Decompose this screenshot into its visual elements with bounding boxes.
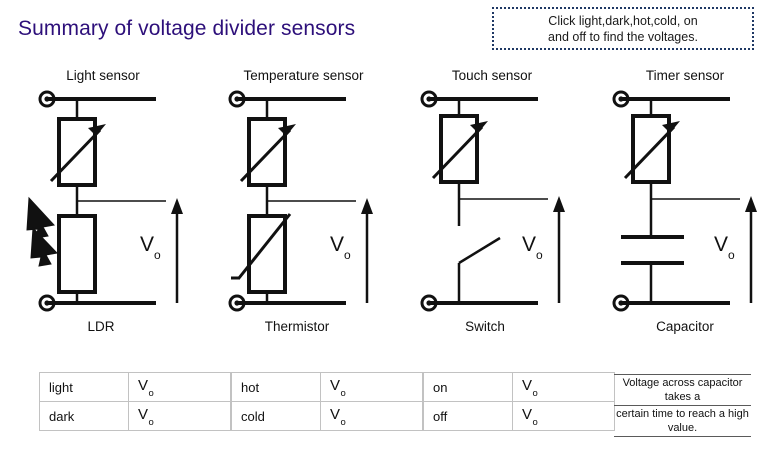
table-row[interactable]: light Vo [40,373,231,402]
vo-subscript: o [149,417,154,428]
instruction-line-1: Click light,dark,hot,cold, on [548,14,697,28]
vo-letter: V [522,377,532,394]
vo-subscript: o [341,388,346,399]
vo-letter: V [714,233,728,256]
component-name-capacitor: Capacitor [590,319,777,334]
table-row[interactable]: dark Vo [40,402,231,431]
ldr-results-table: light Vo dark Vo [39,372,231,431]
circuit-panel-touch-sensor: Touch sensor Vo Switch [400,68,590,358]
instruction-line-2: and off to find the voltages. [548,30,698,44]
switch-results-table: on Vo off Vo [423,372,615,431]
voltage-cell-light[interactable]: Vo [129,373,231,402]
vo-letter: V [138,377,148,394]
circuit-panel-temperature-sensor: Temperature sensor Vo Thermistor [208,68,398,358]
page-title: Summary of voltage divider sensors [18,17,355,41]
output-voltage-label-touch: Vo [522,233,543,259]
timer-sensor-circuit-diagram[interactable] [592,86,777,316]
vo-letter: V [330,406,340,423]
sensor-title-timer: Timer sensor [610,68,760,83]
vo-letter: V [138,406,148,423]
instruction-text: Click light,dark,hot,cold, on and off to… [542,13,704,45]
vo-letter: V [522,233,536,256]
touch-sensor-circuit-diagram[interactable] [400,86,590,316]
vo-subscript: o [533,417,538,428]
vo-letter: V [330,233,344,256]
vo-subscript: o [728,248,735,262]
output-voltage-label-light: Vo [140,233,161,259]
vo-subscript: o [154,248,161,262]
circuit-panel-light-sensor: Light sensor [18,68,208,358]
component-name-switch: Switch [390,319,580,334]
condition-cell-on[interactable]: on [424,373,513,402]
table-row[interactable]: on Vo [424,373,615,402]
condition-cell-off[interactable]: off [424,402,513,431]
condition-cell-light[interactable]: light [40,373,129,402]
component-name-thermistor: Thermistor [202,319,392,334]
capacitor-note-line-2: certain time to reach a high value. [614,406,751,437]
vo-subscript: o [536,248,543,262]
condition-cell-hot[interactable]: hot [232,373,321,402]
vo-letter: V [522,406,532,423]
capacitor-note-line-1: Voltage across capacitor takes a [614,375,751,406]
voltage-cell-on[interactable]: Vo [513,373,615,402]
slide-canvas: Summary of voltage divider sensors Click… [0,0,777,456]
voltage-cell-hot[interactable]: Vo [321,373,423,402]
component-name-ldr: LDR [6,319,196,334]
thermistor-results-table: hot Vo cold Vo [231,372,423,431]
output-voltage-label-temperature: Vo [330,233,351,259]
output-voltage-label-timer: Vo [714,233,735,259]
vo-letter: V [140,233,154,256]
circuit-panel-timer-sensor: Timer sensor Vo Capacitor [592,68,777,358]
voltage-cell-off[interactable]: Vo [513,402,615,431]
table-row: Voltage across capacitor takes a [614,375,751,406]
light-sensor-circuit-diagram[interactable] [18,86,208,316]
sensor-title-touch: Touch sensor [412,68,572,83]
table-row[interactable]: hot Vo [232,373,423,402]
temperature-sensor-circuit-diagram[interactable] [208,86,398,316]
vo-subscript: o [344,248,351,262]
table-row[interactable]: off Vo [424,402,615,431]
voltage-cell-dark[interactable]: Vo [129,402,231,431]
sensor-title-temperature: Temperature sensor [216,68,391,83]
condition-cell-dark[interactable]: dark [40,402,129,431]
table-row: certain time to reach a high value. [614,406,751,437]
vo-letter: V [330,377,340,394]
vo-subscript: o [341,417,346,428]
condition-cell-cold[interactable]: cold [232,402,321,431]
table-row[interactable]: cold Vo [232,402,423,431]
vo-subscript: o [149,388,154,399]
voltage-cell-cold[interactable]: Vo [321,402,423,431]
capacitor-note-table: Voltage across capacitor takes a certain… [614,374,751,437]
instruction-callout: Click light,dark,hot,cold, on and off to… [492,7,754,50]
sensor-title-light: Light sensor [28,68,178,83]
vo-subscript: o [533,388,538,399]
